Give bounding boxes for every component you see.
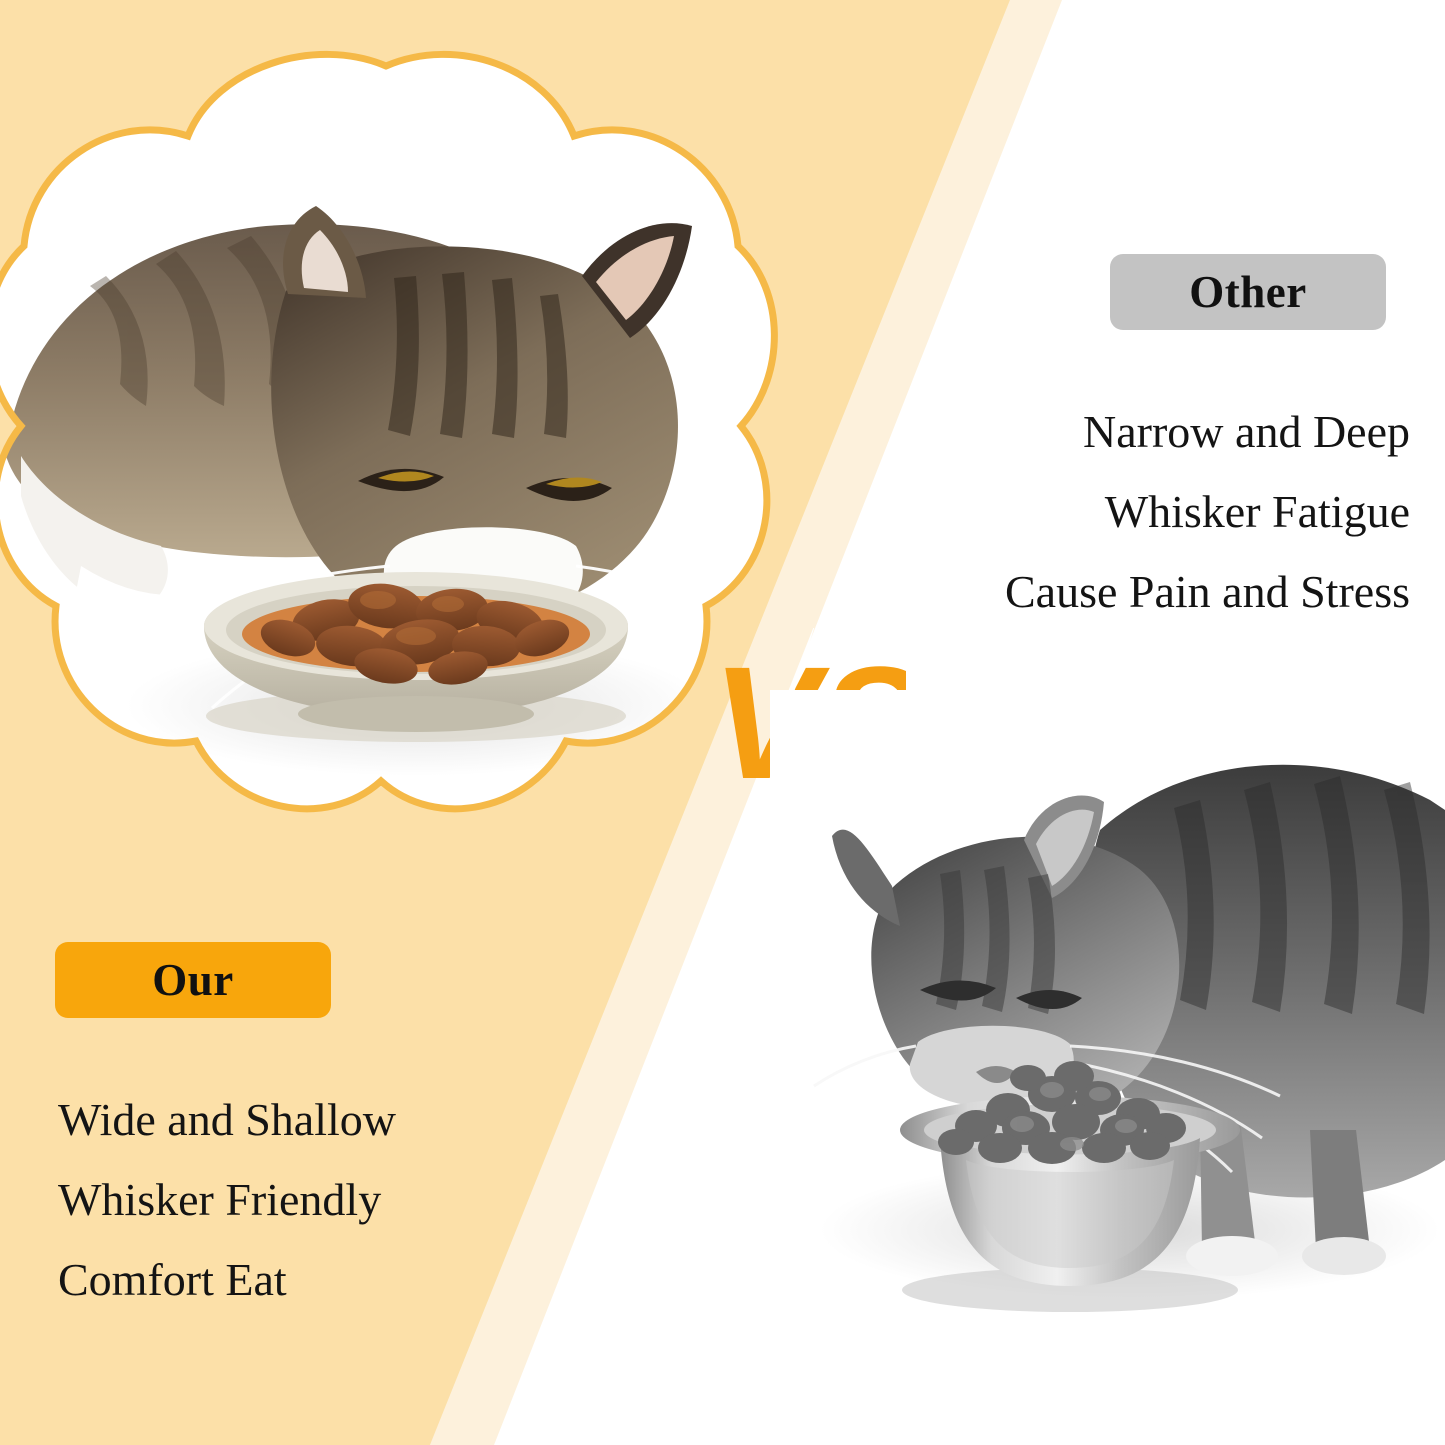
other-feature-item: Cause Pain and Stress: [1005, 552, 1410, 632]
our-feature-item: Wide and Shallow: [58, 1080, 396, 1160]
comparison-infographic: VS: [0, 0, 1445, 1445]
badge-our: Our: [55, 942, 331, 1018]
our-feature-list: Wide and Shallow Whisker Friendly Comfor…: [58, 1080, 396, 1320]
our-feature-item: Comfort Eat: [58, 1240, 396, 1320]
badge-other: Other: [1110, 254, 1386, 330]
other-feature-item: Whisker Fatigue: [1005, 472, 1410, 552]
other-product-photo: [770, 690, 1445, 1360]
other-feature-list: Narrow and Deep Whisker Fatigue Cause Pa…: [1005, 392, 1410, 632]
our-feature-item: Whisker Friendly: [58, 1160, 396, 1240]
our-product-photo: [0, 26, 786, 826]
other-feature-item: Narrow and Deep: [1005, 392, 1410, 472]
